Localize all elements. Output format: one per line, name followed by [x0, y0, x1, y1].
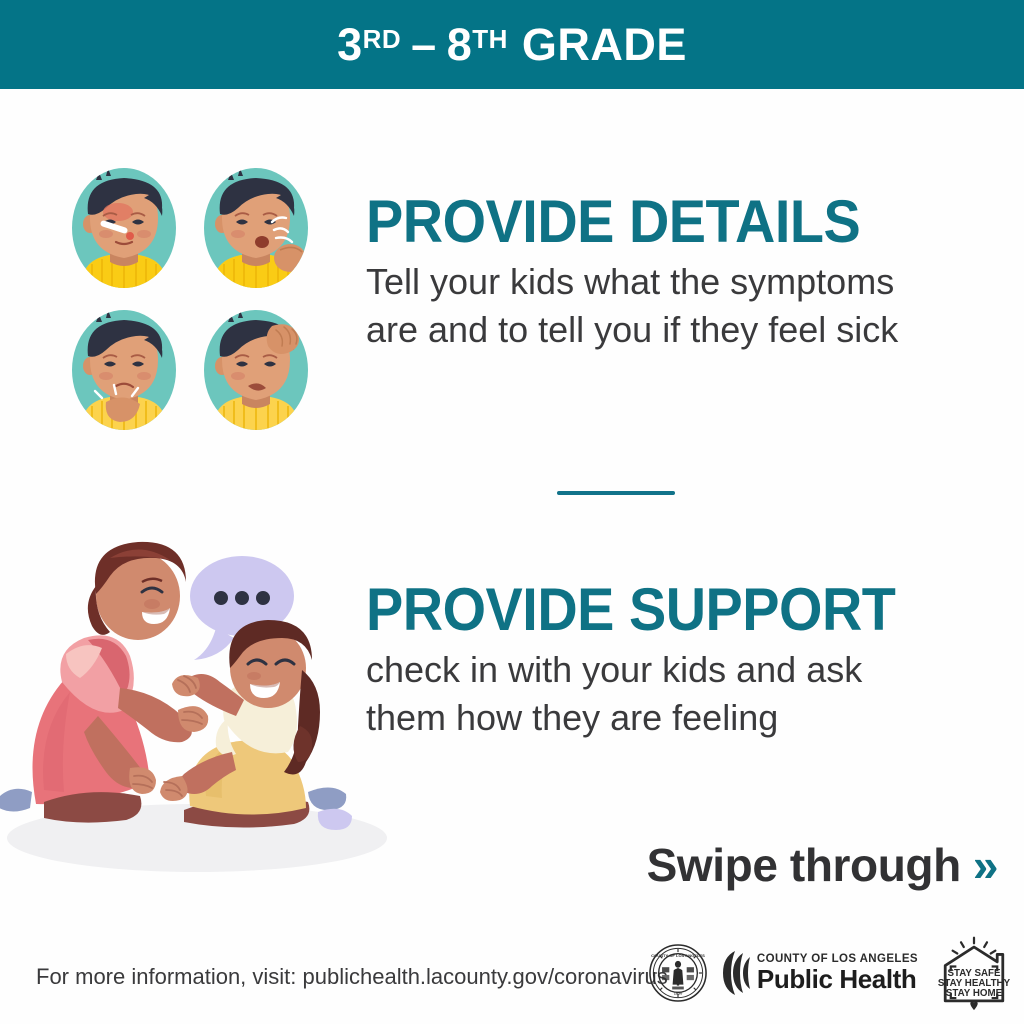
grade-to: 8: [447, 22, 473, 67]
fever-thermometer-face: [72, 168, 176, 324]
section-divider: [557, 491, 675, 495]
poster-canvas: 3RD – 8TH GRADE: [0, 0, 1024, 1024]
page-title: 3RD – 8TH GRADE: [337, 22, 687, 67]
public-health-logo: COUNTY OF LOS ANGELES Public Health: [721, 949, 918, 997]
four-sick-child-faces-illustration: [66, 166, 328, 434]
footer-logos: COUNTY OF LOS ANGELES 1850 COUNTY OF LOS…: [649, 934, 1016, 1012]
grade-range-dash: –: [411, 22, 437, 67]
seal-ring-text: COUNTY OF LOS ANGELES: [651, 953, 705, 958]
coughing-face: [204, 168, 308, 324]
sore-throat-face: [72, 310, 176, 434]
grade-from: 3: [337, 22, 363, 67]
provide-support-section: PROVIDE SUPPORT check in with your kids …: [366, 580, 946, 741]
swipe-through-cta[interactable]: Swipe through »: [647, 838, 998, 892]
mother-shoe: [0, 789, 32, 812]
footer-info-text: For more information, visit: publichealt…: [36, 964, 668, 990]
provide-details-section: PROVIDE DETAILS Tell your kids what the …: [366, 192, 946, 353]
grade-to-ordinal: TH: [472, 26, 508, 52]
grade-from-ordinal: RD: [363, 26, 402, 52]
county-of-los-angeles-seal-icon: COUNTY OF LOS ANGELES 1850: [649, 944, 707, 1002]
stay-safe-stay-healthy-stay-home-icon: STAY SAFE STAY HEALTHY STAY HOME: [932, 934, 1016, 1012]
headache-face: [204, 310, 308, 434]
footer: For more information, visit: publichealt…: [0, 928, 1024, 1024]
provide-support-body: check in with your kids and ask them how…: [366, 646, 926, 741]
stay-safe-line-3: STAY HOME: [946, 988, 1003, 999]
provide-details-heading: PROVIDE DETAILS: [366, 192, 905, 252]
swipe-through-label: Swipe through: [647, 838, 961, 892]
seal-year: 1850: [674, 991, 683, 995]
grade-word: GRADE: [522, 22, 687, 67]
mother-and-daughter-talking-illustration: [0, 520, 410, 880]
double-chevron-right-icon: »: [973, 842, 998, 888]
provide-support-heading: PROVIDE SUPPORT: [366, 580, 905, 640]
heart-icon: [970, 1001, 977, 1010]
daughter-shoe-back: [308, 787, 346, 810]
daughter-hand-lower: [160, 776, 188, 801]
public-health-name-line: Public Health: [757, 966, 918, 992]
header-band: 3RD – 8TH GRADE: [0, 0, 1024, 89]
public-health-faces-icon: [721, 949, 751, 997]
provide-details-body: Tell your kids what the symptoms are and…: [366, 258, 926, 353]
